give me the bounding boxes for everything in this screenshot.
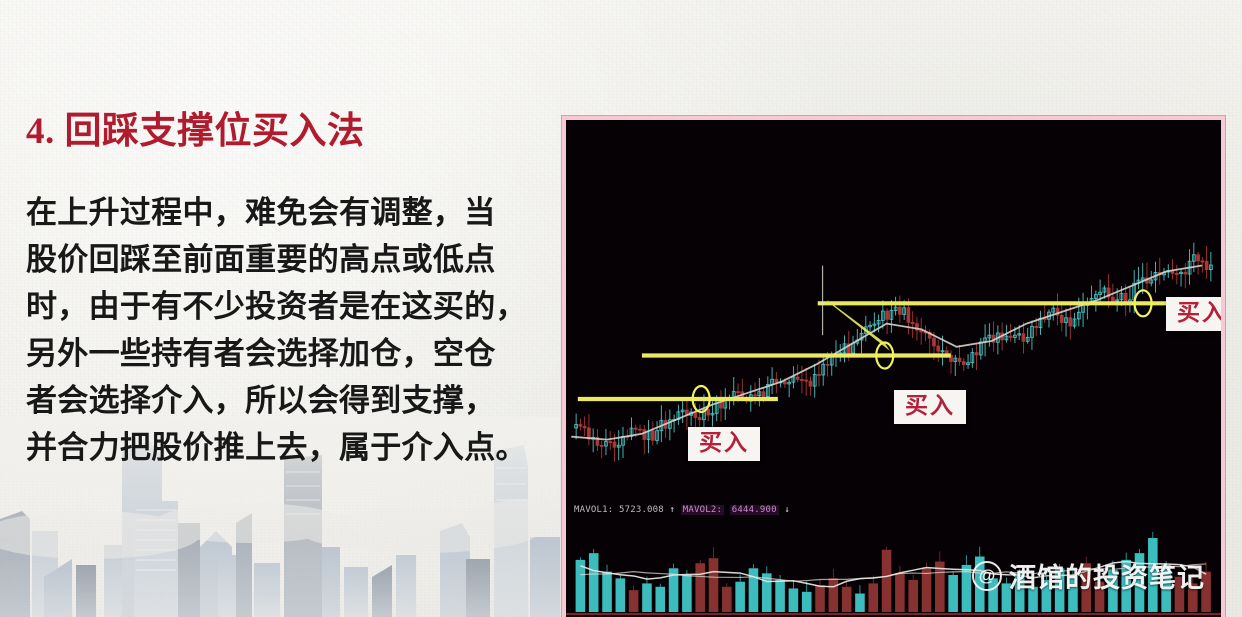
buy-label-3: 买入 xyxy=(1166,297,1221,331)
mavol2-label: MAVOL2: xyxy=(681,505,724,515)
buy-label-1: 买入 xyxy=(688,427,760,461)
mavol1-value: 5723.008 xyxy=(619,505,664,515)
body-line-4: 另外一些持有者会选择加仓，空仓 xyxy=(26,330,560,377)
text-column: 4. 回踩支撑位买入法 在上升过程中，难免会有调整，当 股价回踩至前面重要的高点… xyxy=(0,0,560,617)
stock-chart-panel: 买入 买入 买入 MAVOL1: 5723.008 ↑ MAVOL2: 6444… xyxy=(562,116,1225,617)
body-paragraph: 在上升过程中，难免会有调整，当 股价回踩至前面重要的高点或低点 时，由于有不少投… xyxy=(26,189,560,471)
stock-chart-canvas: 买入 买入 买入 MAVOL1: 5723.008 ↑ MAVOL2: 6444… xyxy=(566,120,1221,617)
slide-page: 4. 回踩支撑位买入法 在上升过程中，难免会有调整，当 股价回踩至前面重要的高点… xyxy=(0,0,1242,617)
buy-label-2: 买入 xyxy=(894,390,966,424)
volume-indicator-readout: MAVOL1: 5723.008 ↑ MAVOL2: 6444.900 ↓ xyxy=(574,505,790,515)
indicator-trailing-arrow-icon: ↓ xyxy=(784,505,790,515)
volume-series xyxy=(576,532,1211,612)
mavol1-label: MAVOL1: xyxy=(574,505,613,515)
page-title: 4. 回踩支撑位买入法 xyxy=(26,112,560,153)
body-line-6: 并合力把股价推上去，属于介入点。 xyxy=(26,424,560,471)
body-line-5: 者会选择介入，所以会得到支撑， xyxy=(26,377,560,424)
body-line-3: 时，由于有不少投资者是在这买的， xyxy=(26,283,560,330)
body-line-2: 股价回踩至前面重要的高点或低点 xyxy=(26,236,560,283)
indicator-arrow-icon: ↑ xyxy=(670,505,676,515)
body-line-1: 在上升过程中，难免会有调整，当 xyxy=(26,189,560,236)
mavol2-value: 6444.900 xyxy=(730,505,779,515)
candlestick-chart xyxy=(566,120,1221,617)
